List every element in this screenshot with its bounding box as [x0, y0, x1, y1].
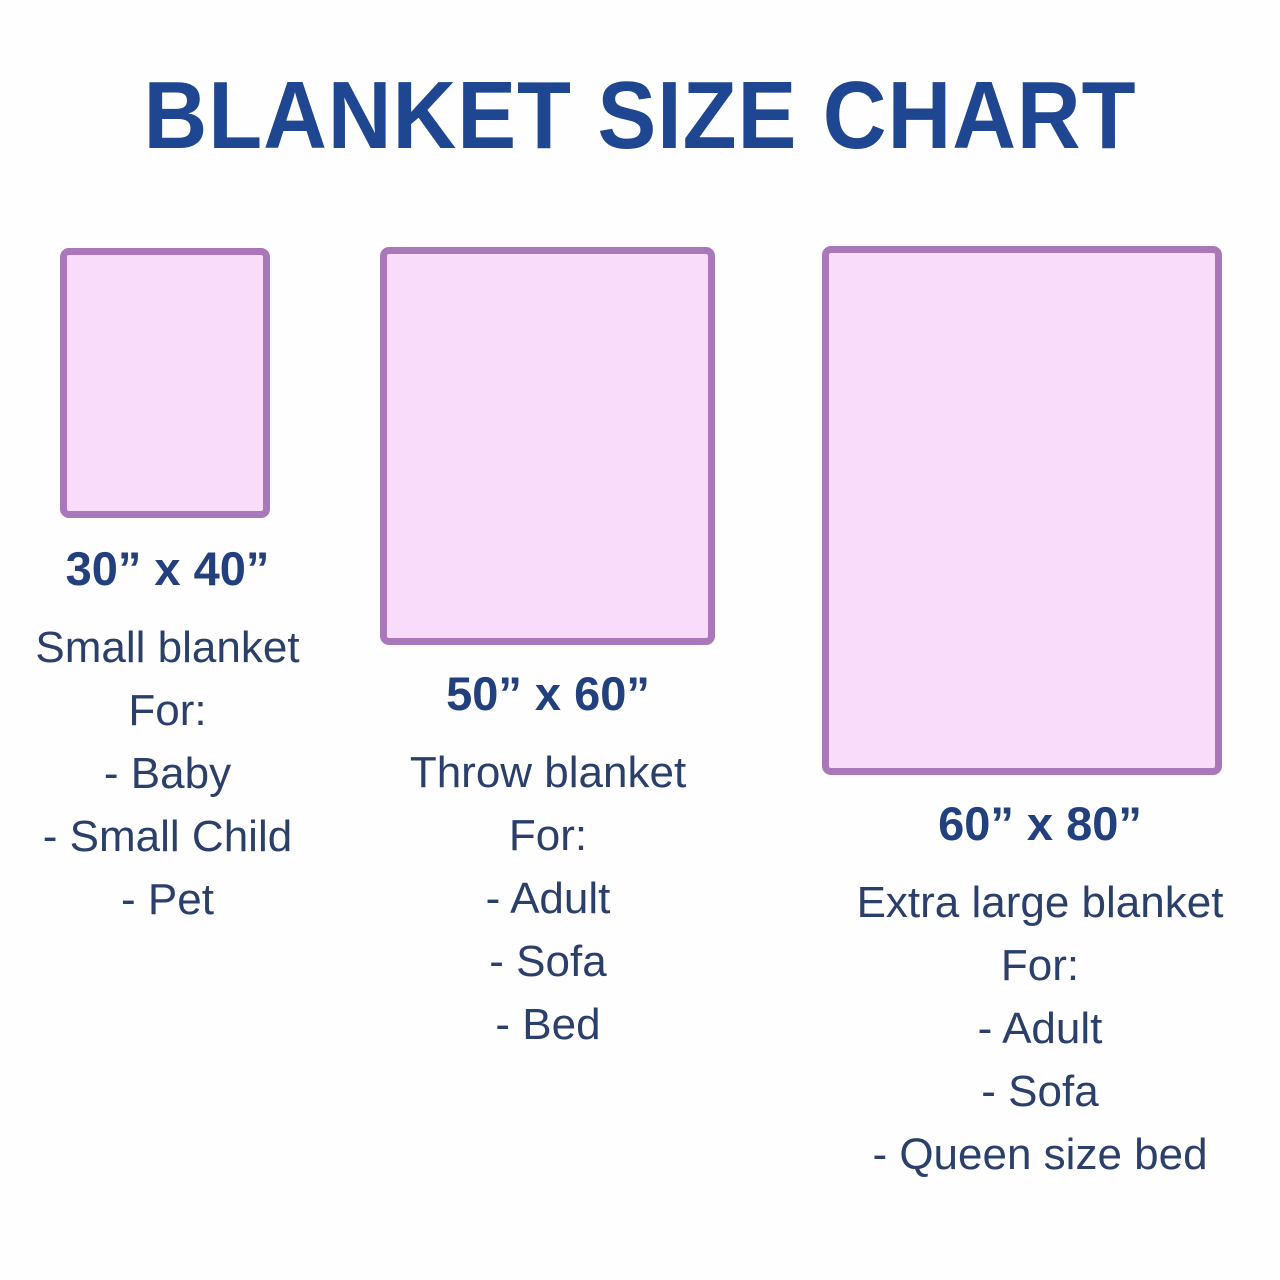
for-label-medium: For: [378, 804, 718, 867]
list-item: - Pet [0, 868, 340, 931]
list-item: - Baby [0, 742, 340, 805]
type-label-small: Small blanket [0, 616, 340, 679]
list-item: - Adult [378, 867, 718, 930]
for-label-large: For: [790, 934, 1280, 997]
use-list-small: - Baby - Small Child - Pet [0, 742, 340, 931]
type-label-medium: Throw blanket [378, 741, 718, 804]
list-item: - Queen size bed [790, 1123, 1280, 1186]
blanket-size-chart-canvas: BLANKET SIZE CHART 30” x 40” Small blank… [0, 0, 1280, 1280]
size-column-small: 30” x 40” Small blanket For: - Baby - Sm… [0, 538, 340, 931]
blanket-swatch-medium [380, 247, 715, 645]
dimension-label-large: 60” x 80” [790, 793, 1280, 855]
list-item: - Bed [378, 993, 718, 1056]
for-label-small: For: [0, 679, 340, 742]
page-title: BLANKET SIZE CHART [51, 68, 1229, 164]
use-list-medium: - Adult - Sofa - Bed [378, 867, 718, 1056]
size-column-medium: 50” x 60” Throw blanket For: - Adult - S… [378, 663, 718, 1056]
dimension-label-small: 30” x 40” [0, 538, 340, 600]
blanket-swatch-large [822, 246, 1222, 775]
list-item: - Sofa [378, 930, 718, 993]
type-label-large: Extra large blanket [790, 871, 1280, 934]
list-item: - Sofa [790, 1060, 1280, 1123]
list-item: - Adult [790, 997, 1280, 1060]
blanket-swatch-small [60, 248, 270, 518]
use-list-large: - Adult - Sofa - Queen size bed [790, 997, 1280, 1186]
list-item: - Small Child [0, 805, 340, 868]
dimension-label-medium: 50” x 60” [378, 663, 718, 725]
size-column-large: 60” x 80” Extra large blanket For: - Adu… [790, 793, 1280, 1186]
